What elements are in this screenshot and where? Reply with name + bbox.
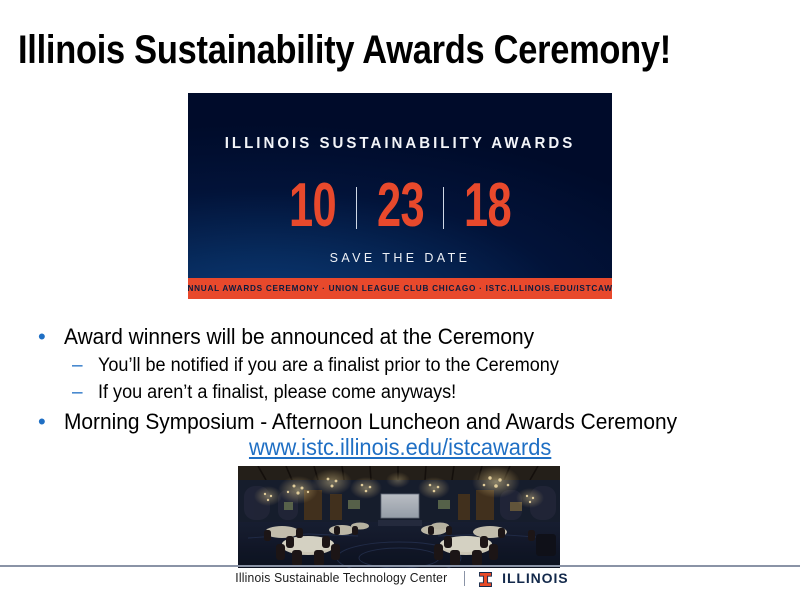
- date-separator-icon: [443, 187, 444, 229]
- list-item: • Award winners will be announced at the…: [30, 322, 770, 352]
- bullet-list: • Award winners will be announced at the…: [30, 322, 770, 438]
- footer-separator-icon: [464, 571, 465, 586]
- footer: Illinois Sustainable Technology Center I…: [0, 570, 800, 586]
- banner-date: 10 23 18: [188, 175, 612, 237]
- dash-bullet-icon: –: [30, 353, 98, 379]
- list-item: – If you aren’t a finalist, please come …: [30, 380, 770, 406]
- dash-bullet-icon: –: [30, 380, 98, 406]
- istc-awards-link[interactable]: www.istc.illinois.edu/istcawards: [249, 434, 551, 461]
- banner-date-year: 18: [465, 175, 512, 237]
- banner-footer-bar: 32ND ANNUAL AWARDS CEREMONY · UNION LEAG…: [188, 278, 612, 299]
- slide: Illinois Sustainability Awards Ceremony!…: [0, 0, 800, 600]
- list-item-label: Morning Symposium - Afternoon Luncheon a…: [64, 407, 677, 437]
- block-i-icon: [479, 572, 492, 587]
- save-the-date-banner: ILLINOIS SUSTAINABILITY AWARDS 10 23 18 …: [188, 93, 612, 299]
- bullet-icon: •: [30, 322, 64, 352]
- list-item-label: You’ll be notified if you are a finalist…: [98, 353, 559, 379]
- list-item-label: Award winners will be announced at the C…: [64, 322, 534, 352]
- list-item: – You’ll be notified if you are a finali…: [30, 353, 770, 379]
- page-title: Illinois Sustainability Awards Ceremony!: [18, 28, 675, 72]
- footer-org-label: Illinois Sustainable Technology Center: [235, 571, 447, 585]
- ballroom-photo: [238, 466, 560, 568]
- ballroom-photo-graphic: [238, 466, 560, 568]
- list-item-label: If you aren’t a finalist, please come an…: [98, 380, 456, 406]
- banner-date-day: 23: [377, 175, 424, 237]
- banner-heading: ILLINOIS SUSTAINABILITY AWARDS: [194, 135, 605, 153]
- block-i-glyph: [479, 572, 492, 587]
- banner-save-the-date: SAVE THE DATE: [188, 251, 612, 265]
- banner-footer-rest: ANNUAL AWARDS CEREMONY · UNION LEAGUE CL…: [188, 284, 612, 293]
- date-separator-icon: [356, 187, 357, 229]
- banner-date-month: 10: [289, 175, 336, 237]
- bullet-icon: •: [30, 407, 64, 437]
- link-row: www.istc.illinois.edu/istcawards: [0, 434, 800, 461]
- list-item: • Morning Symposium - Afternoon Luncheon…: [30, 407, 770, 437]
- footer-brand-label: ILLINOIS: [502, 570, 568, 586]
- footer-divider-line: [0, 565, 800, 567]
